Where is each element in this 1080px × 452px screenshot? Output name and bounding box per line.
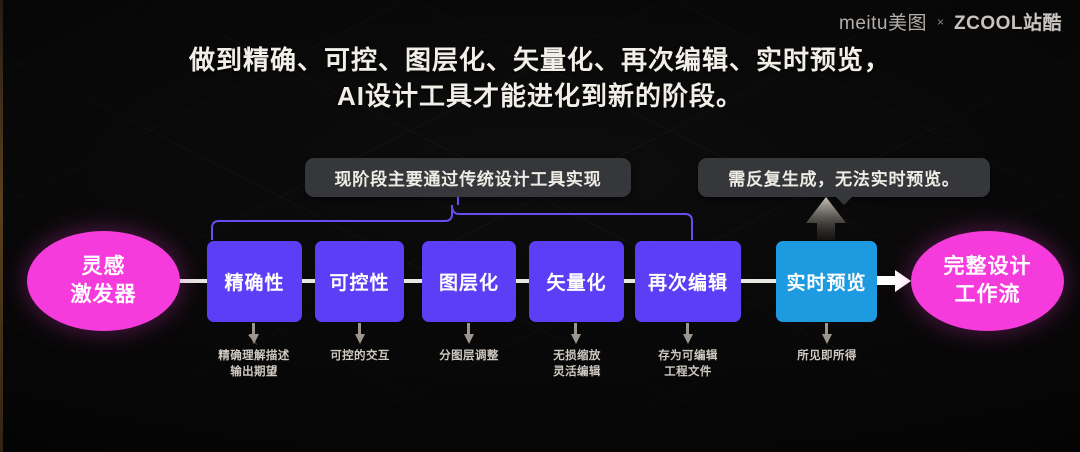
meitu-logo: meitu美图: [839, 8, 927, 35]
caption-vectorization: 无损缩放 灵活编辑: [521, 348, 633, 380]
caption-layering: 分图层调整: [413, 348, 525, 364]
flow-start-label-line-2: 激发器: [71, 281, 137, 309]
flow-end-label-line-1: 完整设计: [944, 253, 1032, 281]
caption-re-edit: 存为可编辑 工程文件: [629, 348, 747, 380]
bracket-connector-icon: [212, 197, 692, 240]
flow-start-label-line-1: 灵感: [82, 253, 126, 281]
down-arrow-icons: [248, 323, 832, 346]
flow-end-node[interactable]: 完整设计 工作流: [911, 231, 1064, 331]
flow-step-controllability[interactable]: 可控性: [315, 241, 404, 322]
flow-step-vectorization[interactable]: 矢量化: [529, 241, 624, 322]
title-line-2: AI设计工具才能进化到新的阶段。: [0, 78, 1080, 114]
slide-canvas: meitu美图 × ZCOOL站酷 做到精确、可控、图层化、矢量化、再次编辑、实…: [0, 0, 1080, 452]
callout-traditional-tools: 现阶段主要通过传统设计工具实现: [305, 158, 631, 197]
flow-end-label-line-2: 工作流: [955, 281, 1021, 309]
flow-step-re-edit[interactable]: 再次编辑: [635, 241, 741, 322]
callout-no-realtime-preview: 需反复生成，无法实时预览。: [698, 158, 990, 197]
caption-realtime-preview: 所见即所得: [770, 348, 884, 364]
title-line-1: 做到精确、可控、图层化、矢量化、再次编辑、实时预览，: [189, 45, 891, 75]
flow-step-precision[interactable]: 精确性: [207, 241, 302, 322]
callout-traditional-tools-label: 现阶段主要通过传统设计工具实现: [335, 165, 602, 190]
zcool-logo: ZCOOL站酷: [954, 8, 1062, 35]
callout-tail-icon: [835, 196, 853, 205]
flow-step-vectorization-label: 矢量化: [546, 268, 606, 295]
flow-step-layering-label: 图层化: [439, 268, 499, 295]
flow-step-precision-label: 精确性: [224, 268, 284, 295]
brand-separator-icon: ×: [937, 15, 944, 29]
caption-precision: 精确理解描述 输出期望: [194, 348, 314, 380]
caption-controllability: 可控的交互: [305, 348, 415, 364]
flow-step-controllability-label: 可控性: [329, 268, 389, 295]
flow-step-re-edit-label: 再次编辑: [648, 268, 728, 295]
right-arrow-icon: [877, 270, 911, 292]
slide-title: 做到精确、可控、图层化、矢量化、再次编辑、实时预览， AI设计工具才能进化到新的…: [0, 42, 1080, 114]
flow-step-realtime-preview-label: 实时预览: [786, 268, 866, 295]
flow-step-layering[interactable]: 图层化: [422, 241, 516, 322]
callout-no-realtime-preview-label: 需反复生成，无法实时预览。: [728, 165, 959, 190]
flow-step-realtime-preview[interactable]: 实时预览: [776, 241, 877, 322]
flow-start-node[interactable]: 灵感 激发器: [27, 231, 180, 331]
brand-lockup: meitu美图 × ZCOOL站酷: [839, 8, 1062, 35]
